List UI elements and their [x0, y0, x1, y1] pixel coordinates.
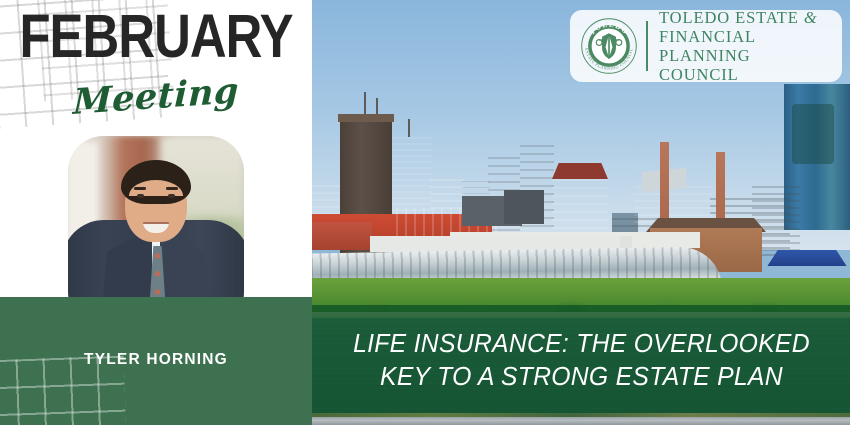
hero-image: LIFE INSURANCE: THE OVERLOOKED KEY TO A …	[312, 0, 850, 425]
bottom-dock-strip	[312, 417, 850, 425]
left-panel: FEBRUARY Meeting TYLER HOR	[0, 0, 312, 425]
presentation-title-line-1: LIFE INSURANCE: THE OVERLOOKED	[353, 328, 810, 361]
speaker-name: TYLER HORNING	[0, 351, 312, 369]
logo-wordmark: TOLEDO ESTATE & FINANCIAL PLANNING COUNC…	[659, 8, 832, 85]
antenna-3	[408, 119, 410, 137]
warehouse-row-3	[312, 222, 372, 250]
antenna-2	[376, 98, 378, 114]
building-red-roof	[552, 163, 608, 179]
speaker-name-panel: TYLER HORNING	[0, 297, 312, 425]
logo-line-1: TOLEDO ESTATE &	[659, 8, 832, 27]
logo-line-1-text: TOLEDO ESTATE	[659, 8, 799, 27]
logo-line-3: COUNCIL	[659, 65, 832, 84]
headshot-eye-left	[137, 194, 144, 198]
antenna-1	[364, 92, 366, 114]
presentation-title: LIFE INSURANCE: THE OVERLOOKED KEY TO A …	[337, 328, 825, 393]
headshot-eyebrow-left	[134, 187, 146, 190]
headshot-eyebrow-right	[166, 187, 178, 190]
building-tower-cap	[338, 114, 394, 122]
blue-pavilion-roof	[764, 250, 850, 266]
building-dark-box-2	[504, 190, 544, 224]
presentation-title-line-2: KEY TO A STRONG ESTATE PLAN	[353, 361, 810, 394]
organization-logo-badge[interactable]: TOLEDO ESTATE PLANNING COUNCIL TOLEDO ES…	[570, 10, 842, 82]
logo-line-2: FINANCIAL PLANNING	[659, 27, 832, 65]
flyer-canvas: FEBRUARY Meeting TYLER HOR	[0, 0, 850, 425]
logo-ampersand: &	[804, 8, 818, 27]
council-seal-icon: TOLEDO ESTATE PLANNING COUNCIL	[580, 17, 638, 75]
logo-divider	[646, 21, 648, 71]
title-band: LIFE INSURANCE: THE OVERLOOKED KEY TO A …	[312, 305, 850, 417]
month-title: FEBRUARY	[6, 6, 306, 67]
headshot-eye-right	[168, 194, 175, 198]
